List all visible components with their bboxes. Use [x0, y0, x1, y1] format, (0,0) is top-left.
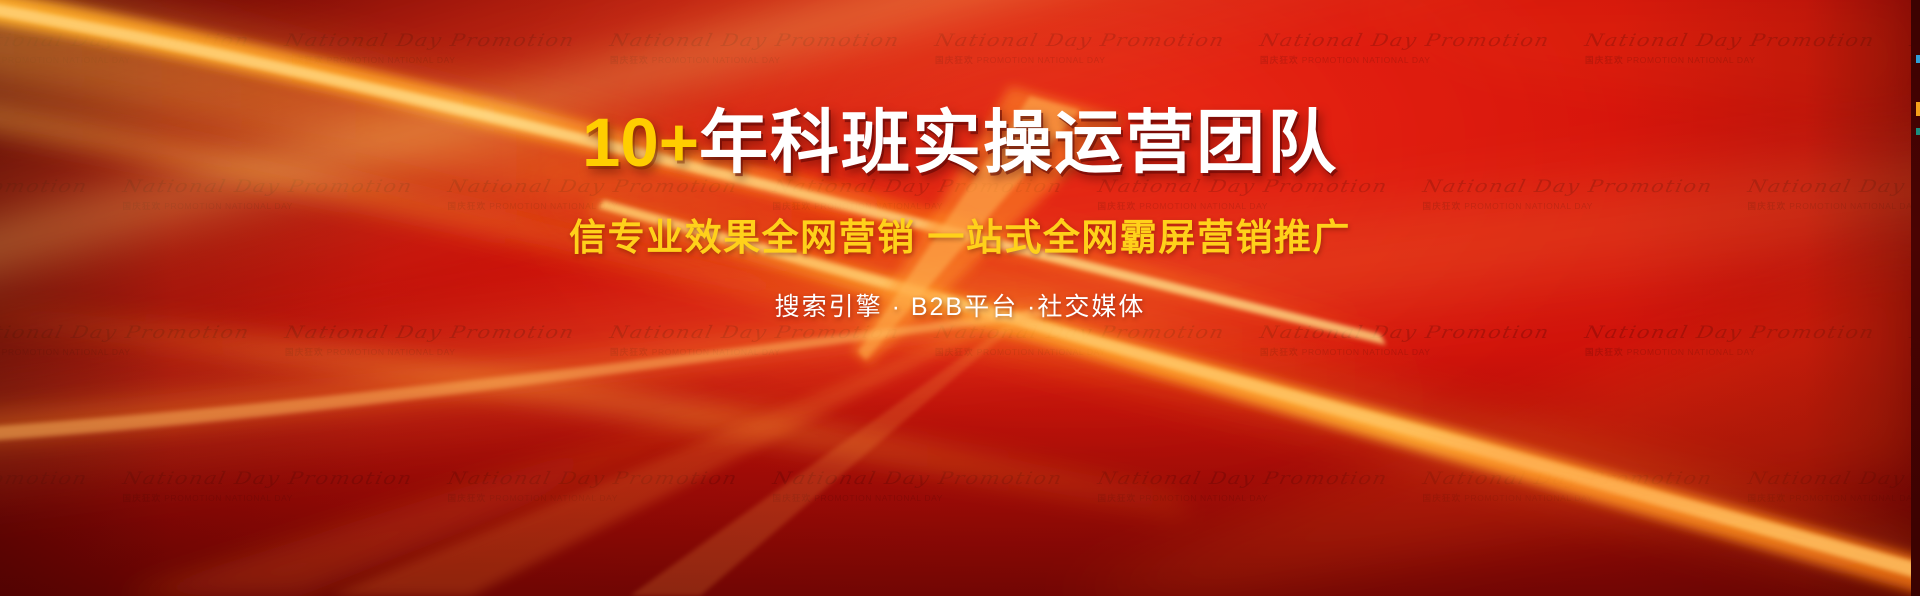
promo-banner: National Day Promotion国庆狂欢 PROMOTION NAT… [0, 0, 1920, 596]
edge-pixel-blue [1916, 55, 1920, 63]
edge-pixel-teal [1916, 128, 1920, 135]
banner-content: 10+年科班实操运营团队 信专业效果全网营销 一站式全网霸屏营销推广 搜索引擎 … [0, 0, 1920, 596]
tagline: 搜索引擎 · B2B平台 ·社交媒体 [775, 287, 1146, 323]
right-edge-strip [1911, 0, 1920, 596]
edge-pixel-orange [1916, 102, 1920, 116]
headline-number: 10+ [582, 104, 699, 181]
subline: 信专业效果全网营销 一站式全网霸屏营销推广 [569, 207, 1351, 261]
headline-text: 年科班实操运营团队 [699, 104, 1338, 181]
headline: 10+年科班实操运营团队 [582, 108, 1338, 177]
